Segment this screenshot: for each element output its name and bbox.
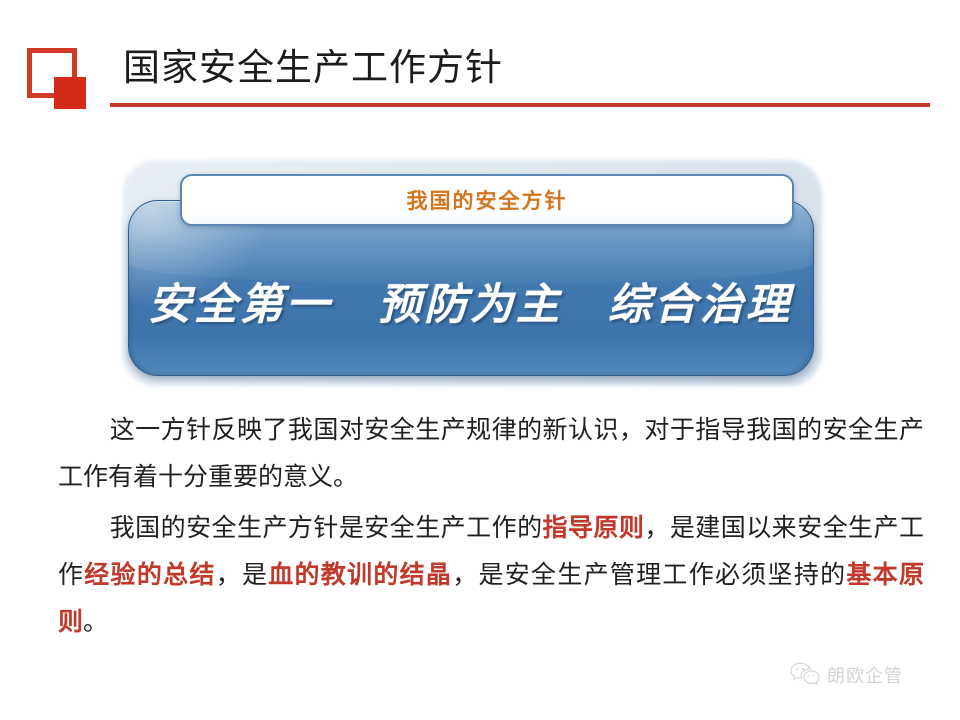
paragraph-1-text: 这一方针反映了我国对安全生产规律的新认识，对于指导我国的安全生产工作有着十分重要…	[58, 415, 924, 491]
title-underline-rule	[110, 103, 930, 107]
square-solid-icon	[54, 77, 86, 109]
paragraph-2-text: 。	[83, 607, 108, 636]
paragraph-2: 我国的安全生产方针是安全生产工作的指导原则，是建国以来安全生产工作经验的总结，是…	[58, 504, 924, 645]
slide-header: 国家安全生产工作方针	[0, 0, 960, 130]
highlighted-term: 血的教训的结晶	[268, 560, 452, 589]
banner-slogan-text: 安全第一 预防为主 综合治理	[128, 270, 812, 332]
body-copy: 这一方针反映了我国对安全生产规律的新认识，对于指导我国的安全生产工作有着十分重要…	[58, 406, 924, 645]
title-decoration-icon	[27, 48, 85, 106]
banner-label-text: 我国的安全方针	[407, 185, 568, 215]
policy-banner: 我国的安全方针 安全第一 预防为主 综合治理	[110, 152, 830, 392]
highlighted-term: 指导原则	[543, 513, 645, 542]
banner-label-chip: 我国的安全方针	[180, 174, 794, 226]
paragraph-2-text: ，是安全生产管理工作必须坚持的	[452, 560, 846, 589]
paragraph-2-text: ，是	[216, 560, 269, 589]
watermark-text: 朗欧企管	[827, 662, 903, 688]
watermark: 朗欧企管	[790, 662, 903, 688]
paragraph-1: 这一方针反映了我国对安全生产规律的新认识，对于指导我国的安全生产工作有着十分重要…	[58, 406, 924, 500]
page-title: 国家安全生产工作方针	[123, 44, 503, 92]
wechat-icon	[790, 662, 820, 688]
highlighted-term: 经验的总结	[84, 560, 215, 589]
paragraph-2-text: 我国的安全生产方针是安全生产工作的	[109, 513, 542, 542]
